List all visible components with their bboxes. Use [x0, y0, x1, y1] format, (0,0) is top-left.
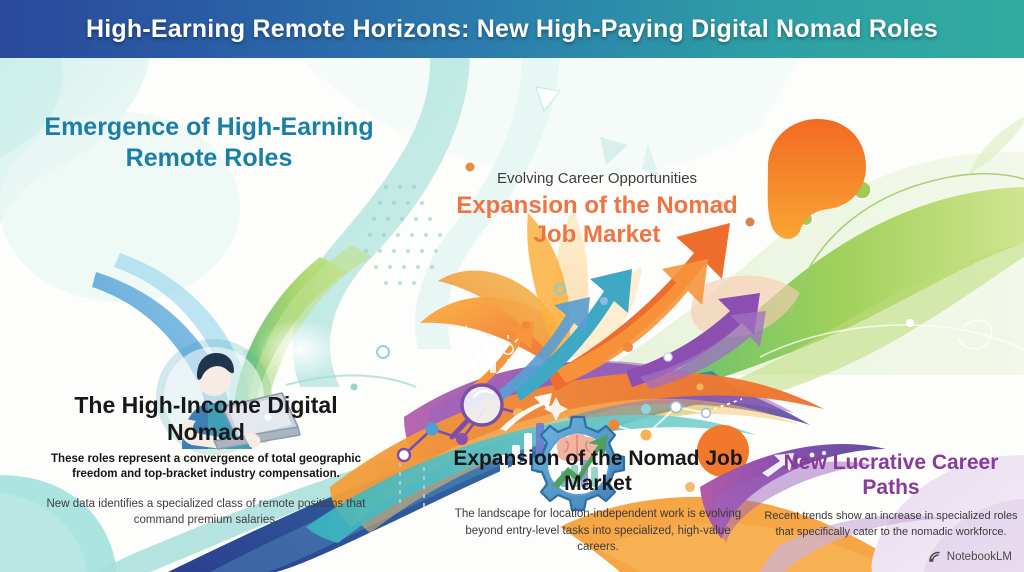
middle-card: Expansion of the Nomad Job Market The la… — [452, 446, 744, 555]
middle-card-body-text: The landscape for location-independent w… — [452, 506, 744, 555]
middle-card-title: Expansion of the Nomad Job Market — [452, 446, 744, 496]
notebooklm-watermark: NotebookLM — [928, 550, 1012, 564]
middle-section-eyebrow: Evolving Career Opportunities — [452, 170, 742, 188]
notebooklm-icon — [928, 550, 942, 564]
header-bar: High-Earning Remote Horizons: New High-P… — [0, 0, 1024, 58]
middle-section-heading: Expansion of the Nomad Job Market — [452, 192, 742, 250]
right-card: New Lucrative Career Paths Recent trends… — [760, 450, 1022, 541]
left-card-title: The High-Income Digital Nomad — [40, 392, 372, 446]
left-card-bold-text: These roles represent a convergence of t… — [40, 452, 372, 483]
right-card-title: New Lucrative Career Paths — [760, 450, 1022, 500]
left-card-body-text: New data identifies a specialized class … — [40, 497, 372, 529]
notebooklm-label: NotebookLM — [947, 551, 1012, 563]
infographic-canvas: High-Earning Remote Horizons: New High-P… — [0, 0, 1024, 572]
right-card-body-text: Recent trends show an increase in specia… — [760, 509, 1022, 540]
page-title: High-Earning Remote Horizons: New High-P… — [86, 15, 938, 44]
left-card: The High-Income Digital Nomad These role… — [40, 392, 372, 529]
left-section-heading: Emergence of High-Earning Remote Roles — [24, 112, 394, 173]
